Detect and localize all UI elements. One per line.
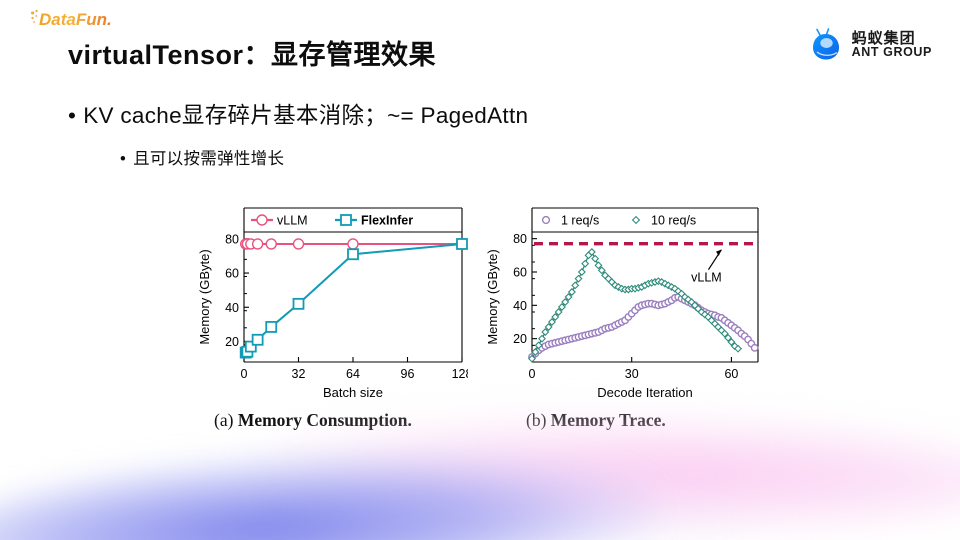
data-point-marker [592,255,598,261]
legend-label: 10 req/s [651,214,696,228]
chart-memory-trace: 2040608003060Decode IterationMemory (GBy… [484,204,764,400]
ant-icon [809,28,843,62]
datafun-logo-icon: DataFun. [30,7,138,31]
x-tick-label: 32 [292,367,306,381]
data-point-marker [539,335,545,341]
legend-label: FlexInfer [361,214,413,228]
bullet-level1-text: KV cache显存碎片基本消除；~= PagedAttn [83,103,528,128]
y-tick-label: 60 [225,267,239,281]
x-tick-label: 128 [452,367,468,381]
data-point-marker [348,239,358,249]
y-tick-label: 40 [513,299,527,313]
data-point-marker [579,269,585,275]
bullet-level1: •KV cache显存碎片基本消除；~= PagedAttn [68,98,528,130]
ant-logo-cn: 蚂蚁集团 [852,31,932,47]
x-tick-label: 0 [241,367,248,381]
bullet-marker: • [68,103,76,129]
legend-label: 1 req/s [561,214,599,228]
series-line-flexinfer [246,244,462,353]
data-point-marker [266,239,276,249]
bullet-level2-text: 且可以按需弹性增长 [133,150,284,168]
data-point-marker [294,239,304,249]
data-point-marker [543,217,550,224]
caption-a-text: Memory Consumption. [238,410,412,430]
data-point-marker [257,215,267,225]
data-point-marker [575,275,581,281]
bullet-level2: •且可以按需弹性增长 [120,145,284,169]
x-tick-label: 64 [346,367,360,381]
data-point-marker [457,239,467,249]
data-point-marker [572,282,578,288]
ant-logo-en: ANT GROUP [852,46,932,59]
figure-container: 204060800326496128Batch sizeMemory (GByt… [196,204,756,436]
x-axis-label: Batch size [323,385,383,400]
y-axis-label: Memory (GByte) [197,249,212,344]
annotation-label-vllm: vLLM [691,271,722,285]
caption-a-prefix: (a) [214,410,238,430]
ant-group-logo: 蚂蚁集团 ANT GROUP [809,28,932,62]
bullet-marker: • [120,150,126,169]
x-tick-label: 96 [401,367,415,381]
data-point-marker [253,335,263,345]
svg-text:DataFun.: DataFun. [39,10,112,29]
data-point-marker [253,239,263,249]
page-title: virtualTensor：显存管理效果 [68,33,436,72]
y-tick-label: 40 [225,301,239,315]
data-point-marker [751,345,757,351]
slide-root: DataFun. 蚂蚁集团 ANT GROUP virtualTensor：显存… [0,0,960,540]
y-axis-label: Memory (GByte) [485,249,500,344]
bottom-gradient-decoration [0,430,960,540]
data-point-marker [348,249,358,259]
x-axis-label: Decode Iteration [597,385,692,400]
y-tick-label: 80 [225,232,239,246]
data-point-marker [633,217,640,224]
x-tick-label: 30 [625,367,639,381]
data-point-marker [341,215,351,225]
caption-b-text: Memory Trace. [551,410,666,430]
x-tick-label: 60 [724,367,738,381]
annotation-arrow-head [716,250,721,256]
y-tick-label: 80 [513,232,527,246]
chart-memory-consumption: 204060800326496128Batch sizeMemory (GByt… [196,204,468,400]
figure-caption-b: (b) Memory Trace. [526,410,666,431]
figure-caption-a: (a) Memory Consumption. [214,410,412,431]
y-tick-label: 20 [513,332,527,346]
data-point-marker [266,322,276,332]
x-tick-label: 0 [529,367,536,381]
legend-label: vLLM [277,214,308,228]
data-point-marker [294,299,304,309]
data-point-marker [582,260,588,266]
series-markers-flexinfer [241,239,467,358]
y-tick-label: 20 [225,335,239,349]
caption-b-prefix: (b) [526,410,551,430]
y-tick-label: 60 [513,266,527,280]
datafun-logo: DataFun. [30,8,138,30]
